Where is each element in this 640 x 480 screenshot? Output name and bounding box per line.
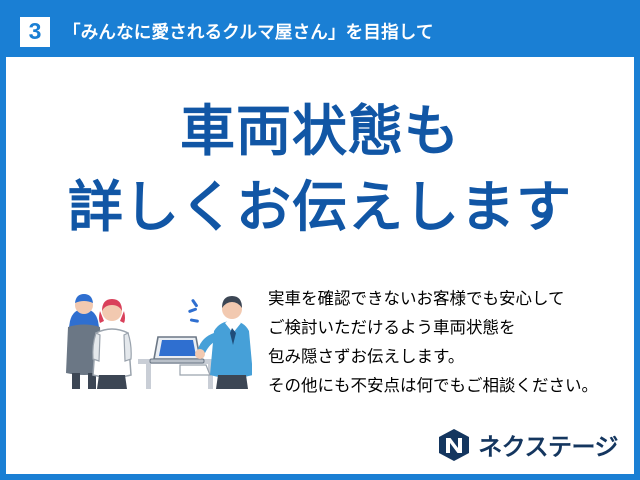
staff-explaining-to-customers-icon	[62, 281, 252, 391]
page-title: 車両状態も 詳しくお伝えします	[6, 98, 634, 240]
body-line-4: その他にも不安点は何でもご相談ください。	[268, 372, 620, 401]
brand-name: ネクステージ	[478, 427, 618, 462]
step-badge: 3	[20, 17, 50, 47]
flyer-page: 3 「みんなに愛されるクルマ屋さん」を目指して 車両状態も 詳しくお伝えします	[0, 0, 640, 480]
body-line-2: ご検討いただけるよう車両状態を	[268, 314, 620, 343]
lower-section: 実車を確認できないお客様でも安心して ご検討いただけるよう車両状態を 包み隠さず…	[6, 281, 634, 411]
headline-line-2: 詳しくお伝えします	[6, 174, 634, 240]
brand-logo: ネクステージ	[437, 427, 618, 462]
body-line-1: 実車を確認できないお客様でも安心して	[268, 285, 620, 314]
body-line-3: 包み隠さずお伝えします。	[268, 343, 620, 372]
headline-line-1: 車両状態も	[6, 98, 634, 164]
header-title: 「みんなに愛されるクルマ屋さん」を目指して	[63, 19, 434, 44]
header-bar: 3 「みんなに愛されるクルマ屋さん」を目指して	[6, 6, 634, 57]
nextage-n-mark-icon	[437, 428, 471, 462]
body-text: 実車を確認できないお客様でも安心して ご検討いただけるよう車両状態を 包み隠さず…	[268, 285, 620, 401]
